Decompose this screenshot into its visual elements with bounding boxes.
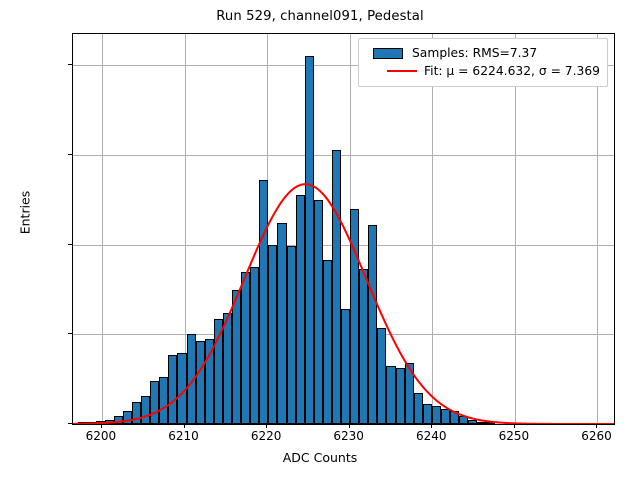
histogram-bar: [196, 341, 205, 424]
histogram-bar: [468, 420, 477, 424]
histogram-bar: [432, 406, 441, 424]
histogram-bar: [268, 245, 277, 424]
histogram-bar: [323, 260, 332, 424]
histogram-bar: [187, 334, 196, 424]
histogram-bar: [459, 416, 468, 424]
histogram-bar: [314, 200, 323, 424]
histogram-bar: [123, 411, 132, 424]
x-axis-tick-label: 6240: [396, 429, 466, 443]
histogram-bar: [368, 225, 377, 424]
histogram-bar: [96, 421, 105, 424]
histogram-bar: [87, 422, 96, 424]
legend-item-fit: Fit: μ = 6224.632, σ = 7.369: [366, 62, 600, 80]
histogram-bar: [414, 393, 423, 424]
histogram-bar: [105, 420, 114, 424]
legend-item-samples: Samples: RMS=7.37: [366, 44, 600, 62]
x-axis-tick-label: 6220: [231, 429, 301, 443]
x-axis-tick-label: 6250: [479, 429, 549, 443]
histogram-bar: [350, 209, 359, 424]
y-axis-label: Entries: [18, 143, 33, 283]
gridline-vertical: [515, 34, 516, 424]
histogram-bar: [232, 290, 241, 424]
chart-legend: Samples: RMS=7.37 Fit: μ = 6224.632, σ =…: [358, 38, 608, 87]
histogram-bar: [377, 328, 386, 424]
page-title: Run 529, channel091, Pedestal: [0, 9, 640, 24]
histogram-bar: [305, 56, 314, 424]
histogram-bar: [486, 422, 495, 424]
histogram-bar: [114, 416, 123, 424]
histogram-bar: [168, 355, 177, 424]
histogram-bar: [141, 396, 150, 424]
gridline-vertical: [432, 34, 433, 424]
histogram-bar: [405, 363, 414, 424]
histogram-bar: [241, 272, 250, 424]
gridline-vertical: [597, 34, 598, 424]
histogram-bar: [159, 377, 168, 424]
histogram-patch-icon: [373, 48, 403, 59]
histogram-bar: [396, 368, 405, 424]
histogram-bar: [386, 366, 395, 424]
histogram-bar: [78, 422, 87, 424]
plot-inner: [73, 34, 614, 424]
histogram-bar: [441, 409, 450, 424]
histogram-bar: [450, 411, 459, 424]
gridline-horizontal: [73, 245, 614, 246]
fit-line-icon: [387, 70, 417, 72]
x-axis-label: ADC Counts: [0, 450, 640, 465]
histogram-bar: [341, 309, 350, 424]
histogram-bar: [214, 319, 223, 424]
histogram-bar: [250, 267, 259, 424]
histogram-bar: [223, 313, 232, 424]
histogram-bar: [359, 269, 368, 424]
histogram-bar: [332, 150, 341, 424]
legend-swatch-wrap: [382, 70, 422, 72]
x-axis-tick-label: 6260: [561, 429, 631, 443]
histogram-bar: [423, 404, 432, 424]
legend-label-samples: Samples: RMS=7.37: [410, 46, 537, 60]
x-axis-tick-label: 6200: [66, 429, 136, 443]
gridline-vertical: [102, 34, 103, 424]
histogram-bar: [259, 180, 268, 424]
histogram-bar: [277, 223, 286, 424]
gridline-horizontal: [73, 155, 614, 156]
legend-label-fit: Fit: μ = 6224.632, σ = 7.369: [422, 64, 600, 78]
histogram-bar: [150, 381, 159, 424]
figure-canvas: Run 529, channel091, Pedestal Entries AD…: [0, 0, 640, 480]
x-axis-tick-label: 6210: [149, 429, 219, 443]
x-axis-tick-label: 6230: [314, 429, 384, 443]
plot-area: [72, 33, 615, 425]
legend-swatch-wrap: [366, 48, 410, 59]
histogram-bar: [205, 339, 214, 424]
histogram-bar: [296, 195, 305, 424]
histogram-bar: [287, 246, 296, 424]
histogram-bar: [132, 402, 141, 424]
histogram-bar: [177, 353, 186, 424]
histogram-bar: [477, 422, 486, 424]
